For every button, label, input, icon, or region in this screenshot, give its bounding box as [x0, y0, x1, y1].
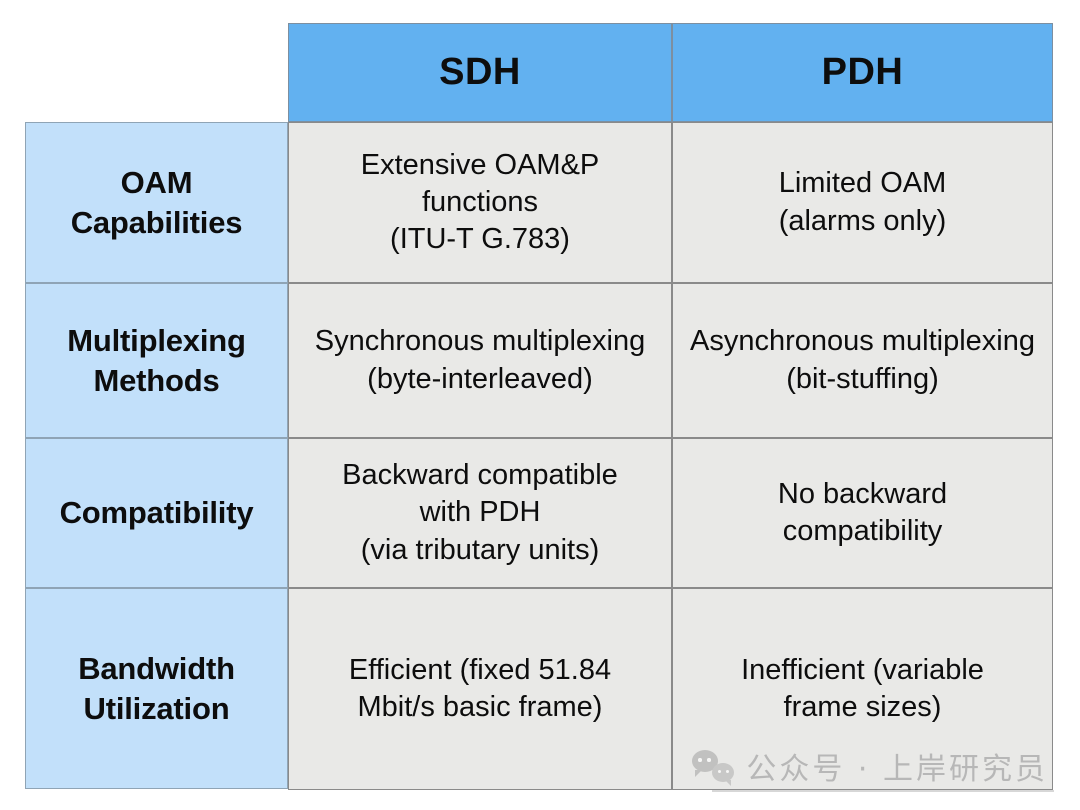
- sdh-pdh-comparison-table: SDH PDH OAM Capabilities Extensive OAM&P…: [0, 0, 1080, 810]
- column-header-sdh-label: SDH: [439, 48, 521, 97]
- table-cell-text: Efficient (fixed 51.84 Mbit/s basic fram…: [349, 652, 611, 726]
- table-cell-compatibility-sdh: Backward compatible with PDH (via tribut…: [288, 438, 672, 588]
- table-corner-blank: [25, 23, 288, 122]
- table-cell-text: No backward compatibility: [778, 476, 947, 550]
- column-header-pdh: PDH: [672, 23, 1053, 122]
- table-cell-oam-sdh: Extensive OAM&P functions (ITU-T G.783): [288, 122, 672, 283]
- table-cell-text: Extensive OAM&P functions (ITU-T G.783): [299, 147, 661, 258]
- row-label-text: Multiplexing Methods: [67, 321, 245, 400]
- table-cell-text: Backward compatible with PDH (via tribut…: [342, 457, 618, 568]
- table-cell-compatibility-pdh: No backward compatibility: [672, 438, 1053, 588]
- table-cell-bandwidth-pdh: Inefficient (variable frame sizes): [672, 588, 1053, 790]
- row-label-oam-capabilities: OAM Capabilities: [25, 122, 288, 283]
- row-label-text: Compatibility: [60, 493, 254, 533]
- row-label-multiplexing-methods: Multiplexing Methods: [25, 283, 288, 438]
- table-grid: SDH PDH OAM Capabilities Extensive OAM&P…: [25, 23, 1053, 789]
- table-cell-text: Inefficient (variable frame sizes): [741, 652, 984, 726]
- row-label-bandwidth-utilization: Bandwidth Utilization: [25, 588, 288, 789]
- table-cell-multiplexing-pdh: Asynchronous multiplexing (bit-stuffing): [672, 283, 1053, 438]
- row-label-compatibility: Compatibility: [25, 438, 288, 588]
- table-cell-oam-pdh: Limited OAM (alarms only): [672, 122, 1053, 283]
- table-cell-text: Synchronous multiplexing (byte-interleav…: [315, 323, 645, 397]
- table-cell-text: Asynchronous multiplexing (bit-stuffing): [690, 323, 1035, 397]
- table-cell-text: Limited OAM (alarms only): [779, 165, 947, 239]
- column-header-pdh-label: PDH: [822, 48, 904, 97]
- row-label-text: Bandwidth Utilization: [78, 649, 235, 728]
- table-cell-bandwidth-sdh: Efficient (fixed 51.84 Mbit/s basic fram…: [288, 588, 672, 790]
- row-label-text: OAM Capabilities: [71, 163, 243, 242]
- column-header-sdh: SDH: [288, 23, 672, 122]
- watermark-underline: [712, 790, 1054, 792]
- table-cell-multiplexing-sdh: Synchronous multiplexing (byte-interleav…: [288, 283, 672, 438]
